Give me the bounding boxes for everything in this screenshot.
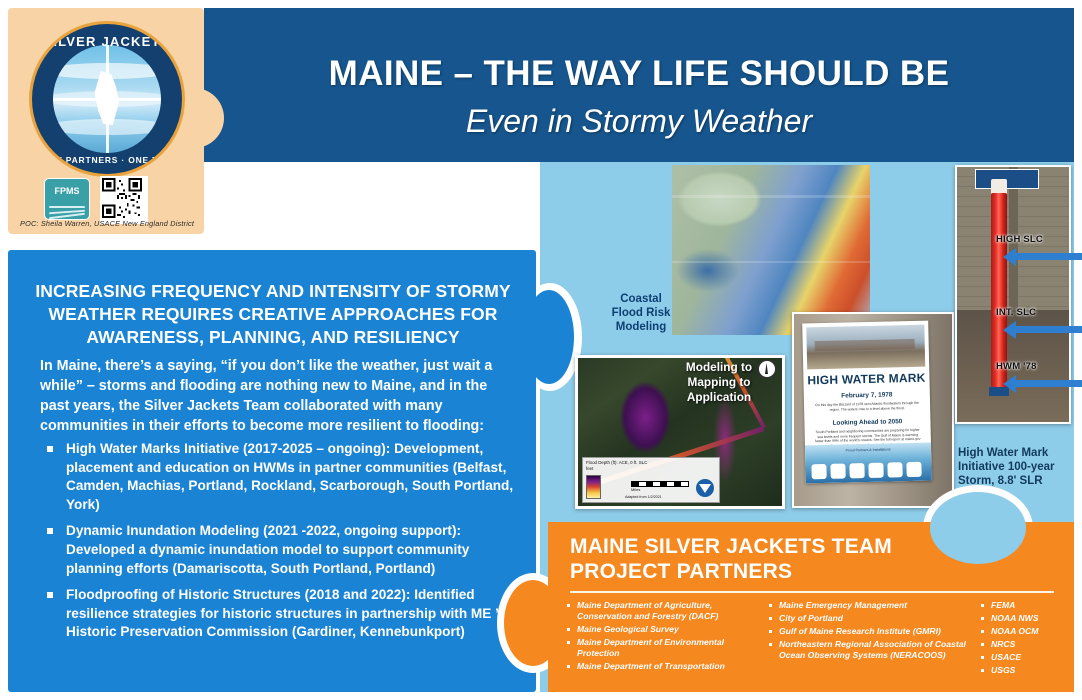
legend-scale-label: Miles bbox=[631, 487, 640, 493]
list-item: Maine Department of Environmental Protec… bbox=[566, 637, 762, 659]
seal-inner-disc bbox=[53, 45, 161, 153]
divider-horizontal bbox=[0, 234, 204, 250]
partners-title: MAINE SILVER JACKETS TEAM PROJECT PARTNE… bbox=[570, 534, 892, 584]
sign-subhead: Looking Ahead to 2050 bbox=[804, 418, 930, 428]
qr-code-icon bbox=[102, 178, 142, 218]
modeling-caption: Modeling to Mapping to Application bbox=[666, 360, 772, 405]
sign-partners-caption: Proud Partners & Installations bbox=[805, 447, 931, 454]
initiatives-list: High Water Marks Initiative (2017-2025 –… bbox=[44, 440, 518, 650]
poc-text: POC: Sheila Warren, USACE New England Di… bbox=[20, 219, 194, 228]
main-content-panel: INCREASING FREQUENCY AND INTENSITY OF ST… bbox=[8, 250, 536, 692]
coastal-flood-risk-map-image bbox=[672, 165, 870, 335]
coastal-caption: Coastal Flood Risk Modeling bbox=[606, 292, 676, 334]
poster-root: MAINE – THE WAY LIFE SHOULD BE Even in S… bbox=[0, 0, 1082, 700]
silver-jackets-seal: SILVER JACKETS MANY PARTNERS · ONE TEAM bbox=[32, 24, 182, 174]
list-item: NRCS bbox=[980, 639, 1082, 650]
main-headline: INCREASING FREQUENCY AND INTENSITY OF ST… bbox=[32, 280, 514, 349]
list-item: NOAA OCM bbox=[980, 626, 1082, 637]
hwm-initiative-caption: High Water Mark Initiative 100-year Stor… bbox=[958, 446, 1076, 488]
qr-code[interactable] bbox=[100, 176, 148, 224]
sign-header-photo bbox=[806, 325, 925, 370]
seal-top-text: SILVER JACKETS bbox=[32, 34, 182, 49]
partner-logo-icon bbox=[811, 464, 826, 479]
legend-unit: feet bbox=[586, 466, 716, 472]
legend-source: Adapted from 1/2/2021 bbox=[625, 494, 662, 500]
partner-logo-icon bbox=[830, 464, 845, 479]
page-subtitle: Even in Stormy Weather bbox=[204, 103, 1074, 140]
list-item: Maine Emergency Management bbox=[768, 600, 974, 611]
seal-bottom-text: MANY PARTNERS · ONE TEAM bbox=[32, 155, 182, 165]
sign-body-paragraph-1: On this day the Blizzard of 1978 sent At… bbox=[812, 401, 922, 413]
sign-board: HIGH WATER MARK February 7, 1978 On this… bbox=[802, 321, 932, 484]
partners-column-3: FEMA NOAA NWS NOAA OCM NRCS USACE USGS bbox=[980, 600, 1082, 678]
list-item: Gulf of Maine Research Institute (GMRI) bbox=[768, 626, 974, 637]
sign-partner-logos bbox=[811, 462, 921, 479]
list-item: Northeastern Regional Association of Coa… bbox=[768, 639, 974, 661]
sign-title: HIGH WATER MARK bbox=[803, 371, 929, 388]
list-item: NOAA NWS bbox=[980, 613, 1082, 624]
partner-logo-icon bbox=[887, 462, 902, 477]
noaa-logo-icon bbox=[696, 479, 714, 497]
puzzle-knob-lightblue-down bbox=[930, 492, 1026, 564]
list-item: FEMA bbox=[980, 600, 1082, 611]
list-item: Maine Geological Survey bbox=[566, 624, 762, 635]
list-item: Maine Department of Transportation bbox=[566, 661, 762, 672]
partners-column-2: Maine Emergency Management City of Portl… bbox=[768, 600, 974, 678]
list-item: High Water Marks Initiative (2017-2025 –… bbox=[44, 440, 518, 514]
partners-columns: Maine Department of Agriculture, Conserv… bbox=[566, 600, 1062, 678]
partners-column-1: Maine Department of Agriculture, Conserv… bbox=[566, 600, 762, 678]
list-item: USGS bbox=[980, 665, 1082, 676]
list-item: City of Portland bbox=[768, 613, 974, 624]
logo-panel: SILVER JACKETS MANY PARTNERS · ONE TEAM … bbox=[8, 8, 204, 234]
partners-divider bbox=[570, 591, 1054, 593]
partners-title-line2: PROJECT PARTNERS bbox=[570, 559, 892, 584]
partner-logo-icon bbox=[849, 463, 864, 478]
pole-label: HWM '78 bbox=[996, 361, 1037, 372]
list-item: Dynamic Inundation Modeling (2021 -2022,… bbox=[44, 522, 518, 578]
main-paragraph: In Maine, there’s a saying, “if you don’… bbox=[40, 356, 512, 436]
sign-wave-graphic: Proud Partners & Installations bbox=[805, 443, 932, 484]
pole-label: HIGH SLC bbox=[996, 234, 1043, 245]
partner-logo-icon bbox=[868, 463, 883, 478]
fpms-label: FPMS bbox=[45, 186, 89, 196]
high-water-mark-sign-photo: HIGH WATER MARK February 7, 1978 On this… bbox=[792, 312, 954, 508]
pole-top-sign bbox=[975, 169, 1039, 189]
list-item: Floodproofing of Historic Structures (20… bbox=[44, 586, 518, 642]
list-item: USACE bbox=[980, 652, 1082, 663]
coastal-map-graphic bbox=[672, 165, 870, 335]
sign-date: February 7, 1978 bbox=[804, 391, 930, 401]
page-title: MAINE – THE WAY LIFE SHOULD BE bbox=[204, 54, 1074, 94]
header-band: MAINE – THE WAY LIFE SHOULD BE Even in S… bbox=[204, 8, 1074, 162]
partner-logo-icon bbox=[906, 462, 921, 477]
map-legend: Flood Depth (ft): ACE, 0 ft. SLC feet Mi… bbox=[582, 457, 720, 503]
legend-color-ramp bbox=[586, 475, 601, 499]
fpms-logo: FPMS bbox=[44, 178, 90, 220]
partners-title-line1: MAINE SILVER JACKETS TEAM bbox=[570, 534, 892, 559]
list-item: Maine Department of Agriculture, Conserv… bbox=[566, 600, 762, 622]
pole-label: INT. SLC bbox=[996, 307, 1036, 318]
pole-red-marker bbox=[991, 193, 1007, 389]
